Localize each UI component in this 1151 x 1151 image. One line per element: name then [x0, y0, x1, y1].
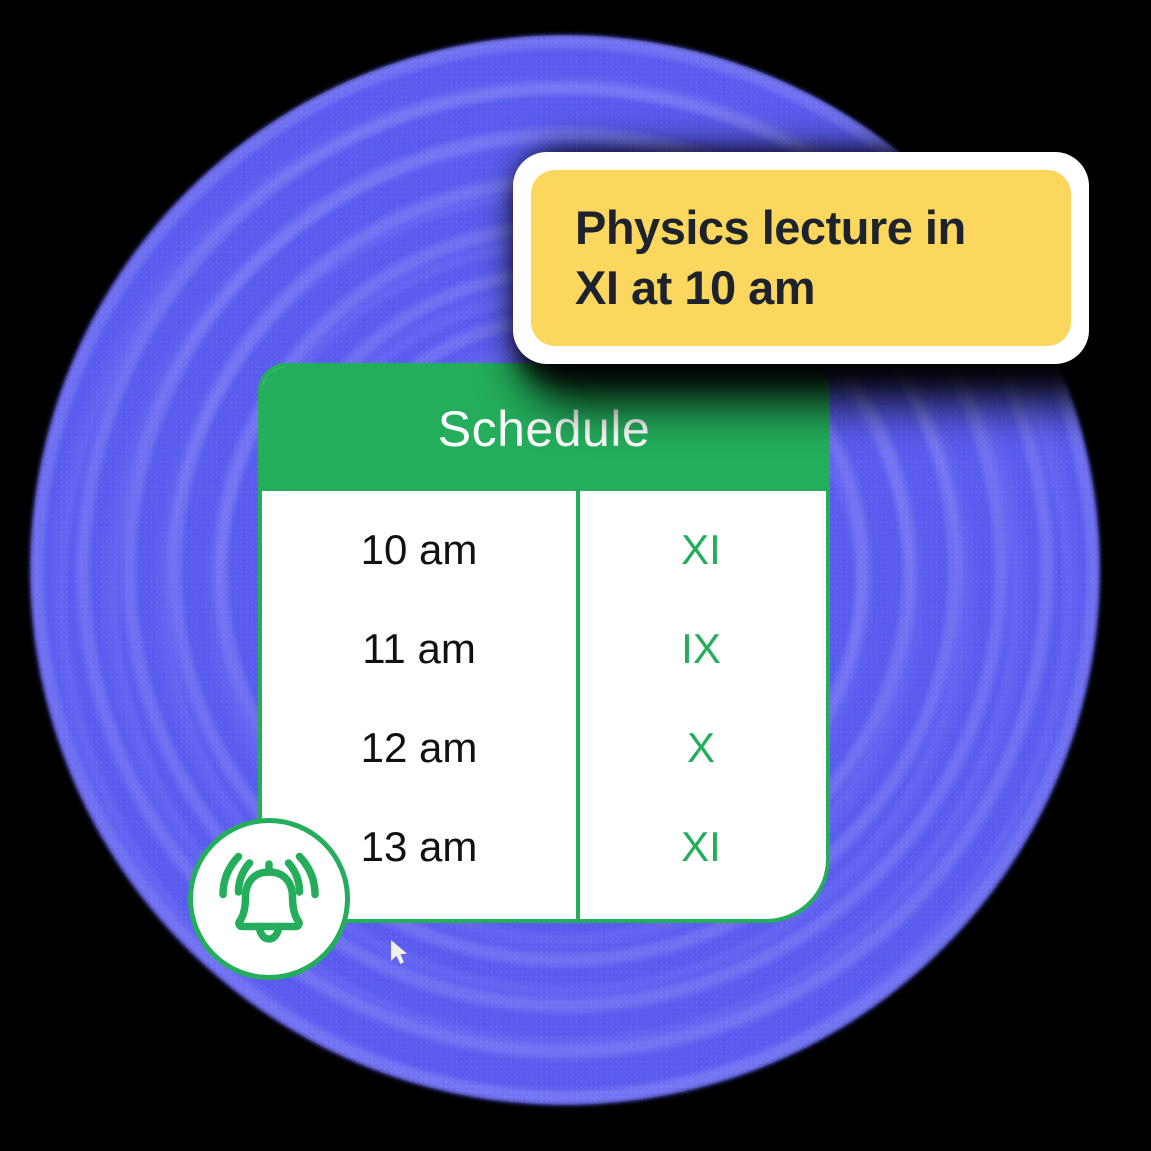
screenshot-stage: Schedule 10 am 11 am 12 am 13 am XI IX X… [0, 0, 1151, 1151]
table-row[interactable]: XI [576, 788, 826, 887]
schedule-card-header: Schedule [262, 367, 826, 491]
schedule-card: Schedule 10 am 11 am 12 am 13 am XI IX X… [258, 363, 830, 923]
table-row[interactable]: 12 am [262, 689, 576, 788]
table-row[interactable]: XI [576, 491, 826, 590]
schedule-table: 10 am 11 am 12 am 13 am XI IX X XI [262, 491, 826, 919]
table-column-divider [576, 491, 580, 919]
schedule-title: Schedule [438, 400, 651, 458]
table-row[interactable]: 10 am [262, 491, 576, 590]
notification-bell-badge[interactable] [188, 818, 350, 980]
table-row[interactable]: 11 am [262, 590, 576, 689]
table-row[interactable]: X [576, 689, 826, 788]
notification-message: Physics lecture in XI at 10 am [575, 198, 966, 318]
notification-card-body: Physics lecture in XI at 10 am [531, 170, 1071, 346]
table-row[interactable]: IX [576, 590, 826, 689]
cursor-arrow-icon [388, 938, 410, 968]
notification-card[interactable]: Physics lecture in XI at 10 am [513, 152, 1089, 364]
schedule-class-column: XI IX X XI [576, 491, 826, 919]
ringing-bell-icon [215, 848, 323, 950]
